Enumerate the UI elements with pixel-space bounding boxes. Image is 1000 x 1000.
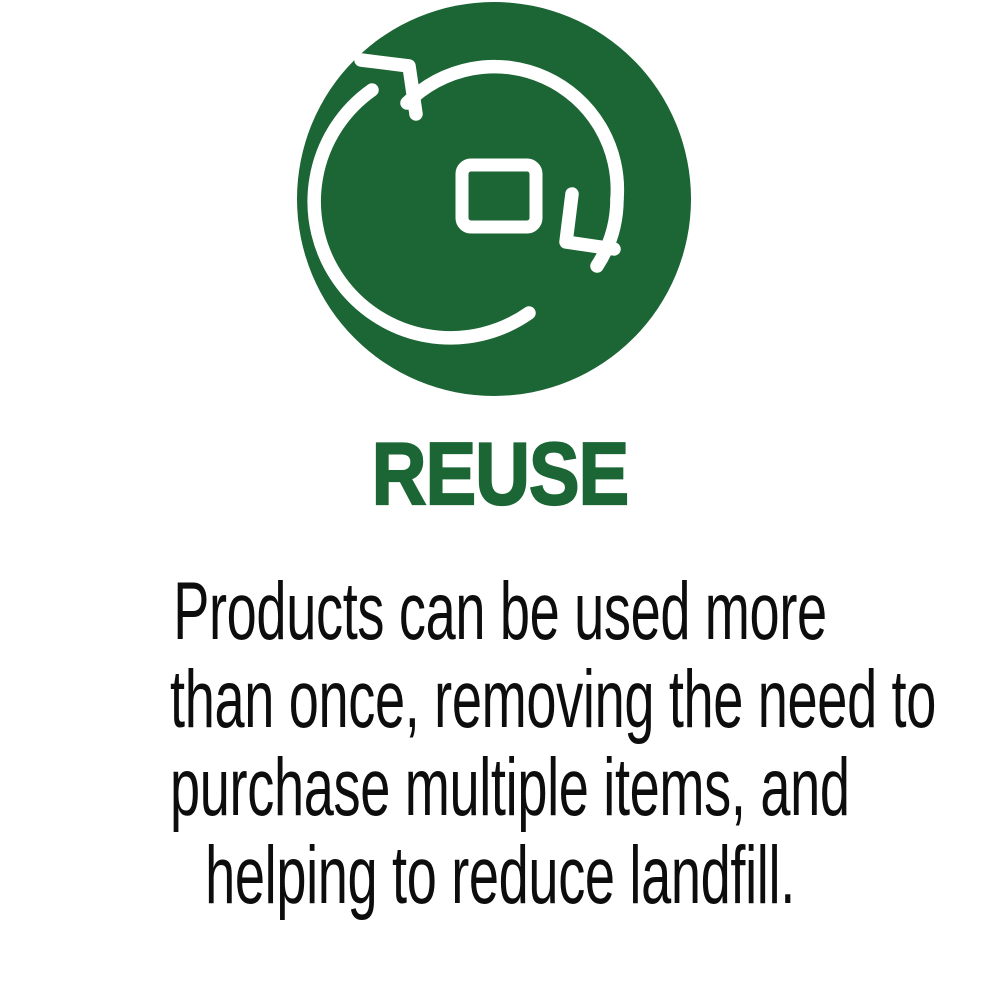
description-line-1: Products can be used more [170, 568, 830, 656]
description-line-4: helping to reduce landfill. [170, 832, 830, 920]
description-paragraph: Products can be used more than once, rem… [0, 568, 1000, 920]
description-line-3: purchase multiple items, and [170, 744, 830, 832]
description-line-2: than once, removing the need to [170, 656, 830, 744]
reuse-cycle-icon [297, 2, 691, 396]
reuse-infographic-card: REUSE Products can be used more than onc… [0, 0, 1000, 1000]
page-title: REUSE [70, 434, 930, 514]
